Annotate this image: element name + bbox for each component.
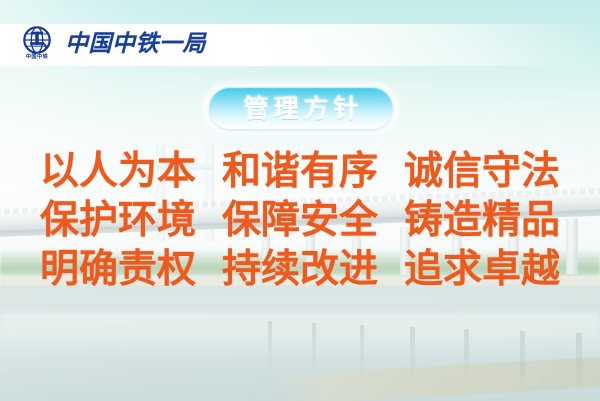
pier-reflection — [576, 333, 582, 391]
china-railway-emblem-icon: 中国中铁 — [18, 26, 56, 62]
poster-canvas: 中国中铁 中国中铁一局 管理方针 以人为本 和谐有序 诚信守法 保护环境 保障安… — [0, 0, 600, 401]
pier-reflection — [410, 327, 415, 379]
slogan-phrase: 追求卓越 — [404, 250, 560, 291]
slogan-phrase: 保护环境 — [40, 201, 196, 242]
slogan-phrase: 和谐有序 — [222, 152, 378, 193]
title-banner-label: 管理方针 — [238, 96, 363, 121]
pier-reflection — [268, 321, 272, 367]
slogan-block: 以人为本 和谐有序 诚信守法 保护环境 保障安全 铸造精品 明确责权 持续改进 … — [0, 152, 600, 291]
title-banner: 管理方针 — [203, 83, 399, 133]
pier-reflection — [360, 325, 364, 375]
slogan-phrase: 以人为本 — [40, 152, 196, 193]
pier-reflection — [312, 323, 316, 371]
brand-logo: 中国中铁 中国中铁一局 — [18, 26, 206, 62]
slogan-row: 明确责权 持续改进 追求卓越 — [0, 250, 600, 291]
pier-reflection — [520, 331, 525, 387]
slogan-row: 保护环境 保障安全 铸造精品 — [0, 201, 600, 242]
slogan-phrase: 铸造精品 — [404, 201, 560, 242]
slogan-phrase: 明确责权 — [40, 250, 196, 291]
slogan-phrase: 保障安全 — [222, 201, 378, 242]
slogan-row: 以人为本 和谐有序 诚信守法 — [0, 152, 600, 193]
brand-wordmark: 中国中铁一局 — [65, 33, 206, 56]
slogan-phrase: 持续改进 — [222, 250, 378, 291]
emblem-subtext: 中国中铁 — [26, 55, 48, 60]
title-banner-pill: 管理方针 — [209, 87, 393, 129]
slogan-phrase: 诚信守法 — [404, 152, 560, 193]
pier-reflection — [464, 329, 469, 383]
